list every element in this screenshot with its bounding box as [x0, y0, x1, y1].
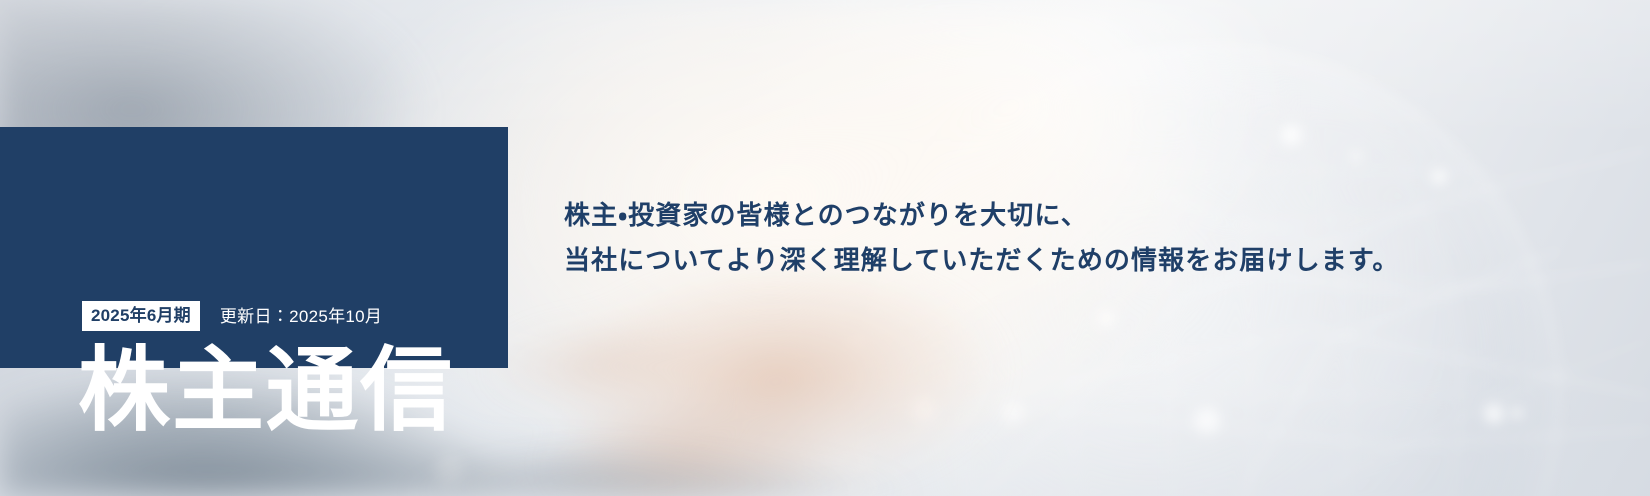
- lead-copy-line-2: 当社についてより深く理解していただくための情報をお届けします。: [564, 238, 1399, 283]
- globe-latitude-line: [874, 394, 1546, 396]
- network-node: [1482, 402, 1506, 426]
- network-node: [1430, 168, 1448, 186]
- network-node: [1000, 400, 1026, 426]
- period-badge: 2025年6月期: [82, 301, 200, 331]
- update-date-label: 更新日：2025年10月: [220, 308, 382, 325]
- network-node: [1350, 150, 1362, 162]
- globe-latitude-line: [874, 170, 1546, 172]
- network-node: [1510, 406, 1524, 420]
- network-node: [1096, 308, 1116, 328]
- network-node: [906, 392, 940, 426]
- lead-copy: 株主・投資家の皆様とのつながりを大切に、 当社についてより深く理解していただくた…: [564, 193, 1399, 283]
- network-node: [430, 452, 468, 490]
- network-node: [846, 334, 864, 352]
- network-node: [1190, 404, 1224, 438]
- shareholder-newsletter-hero: 2025年6月期 更新日：2025年10月 株主通信 株主・投資家の皆様とのつな…: [0, 0, 1650, 496]
- headline-panel: 2025年6月期 更新日：2025年10月 株主通信: [0, 127, 508, 368]
- panel-meta-row: 2025年6月期 更新日：2025年10月: [82, 301, 382, 331]
- page-title: 株主通信: [78, 342, 454, 441]
- network-node: [1278, 122, 1304, 148]
- lead-copy-line-1: 株主・投資家の皆様とのつながりを大切に、: [564, 193, 1399, 238]
